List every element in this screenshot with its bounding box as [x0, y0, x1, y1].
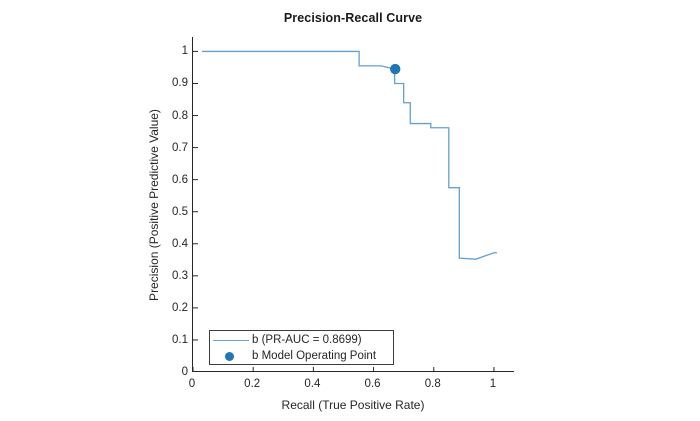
y-axis-tick-marks [193, 51, 198, 372]
pr-curve-line [202, 51, 497, 259]
legend-dot-swatch [210, 348, 252, 365]
y-tick-label: 0 [154, 366, 188, 378]
legend-item-curve[interactable]: b (PR-AUC = 0.8699) [210, 332, 393, 349]
x-tick-label: 0.4 [292, 378, 332, 390]
x-axis-title: Recall (True Positive Rate) [192, 398, 514, 412]
y-axis-title: Precision (Positive Predictive Value) [147, 55, 161, 355]
model-operating-point-marker [390, 64, 400, 74]
legend-item-operating-point[interactable]: b Model Operating Point [210, 348, 393, 365]
x-tick-label: 0.2 [232, 378, 272, 390]
x-tick-label: 0.6 [353, 378, 393, 390]
page-title: Precision-Recall Curve [192, 11, 514, 25]
legend-line-swatch [210, 332, 252, 349]
x-tick-label: 0 [172, 378, 212, 390]
plot-area [192, 37, 514, 372]
x-tick-label: 1 [473, 378, 513, 390]
legend-label-curve: b (PR-AUC = 0.8699) [252, 332, 362, 349]
legend: b (PR-AUC = 0.8699) b Model Operating Po… [209, 330, 394, 365]
x-axis-tick-marks [193, 367, 494, 372]
x-tick-label: 0.8 [413, 378, 453, 390]
legend-label-operating-point: b Model Operating Point [252, 348, 376, 365]
x-axis-tick-labels: 00.20.40.60.81 [192, 378, 514, 396]
precision-recall-curve-svg [193, 37, 515, 372]
figure-canvas: Precision-Recall Curve 00.10.20.30.40.50… [0, 0, 700, 421]
